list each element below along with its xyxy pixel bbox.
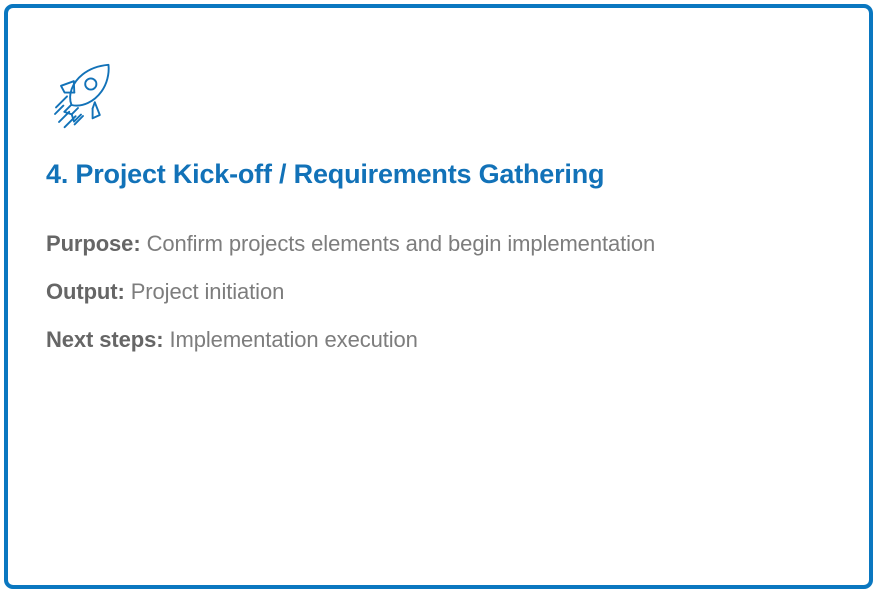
detail-row-output: Output: Project initiation	[46, 268, 827, 316]
detail-label-next-steps: Next steps:	[46, 327, 164, 352]
card-content: 4. Project Kick-off / Requirements Gathe…	[8, 8, 869, 585]
detail-value-purpose: Confirm projects elements and begin impl…	[147, 231, 656, 256]
detail-row-next-steps: Next steps: Implementation execution	[46, 316, 827, 364]
detail-value-output: Project initiation	[131, 279, 285, 304]
detail-label-purpose: Purpose:	[46, 231, 141, 256]
detail-label-output: Output:	[46, 279, 125, 304]
detail-value-next-steps: Implementation execution	[170, 327, 418, 352]
detail-row-purpose: Purpose: Confirm projects elements and b…	[46, 220, 827, 268]
page-title: 4. Project Kick-off / Requirements Gathe…	[46, 156, 829, 192]
rocket-icon	[50, 58, 124, 132]
info-card: 4. Project Kick-off / Requirements Gathe…	[4, 4, 873, 589]
details-list: Purpose: Confirm projects elements and b…	[46, 220, 827, 364]
